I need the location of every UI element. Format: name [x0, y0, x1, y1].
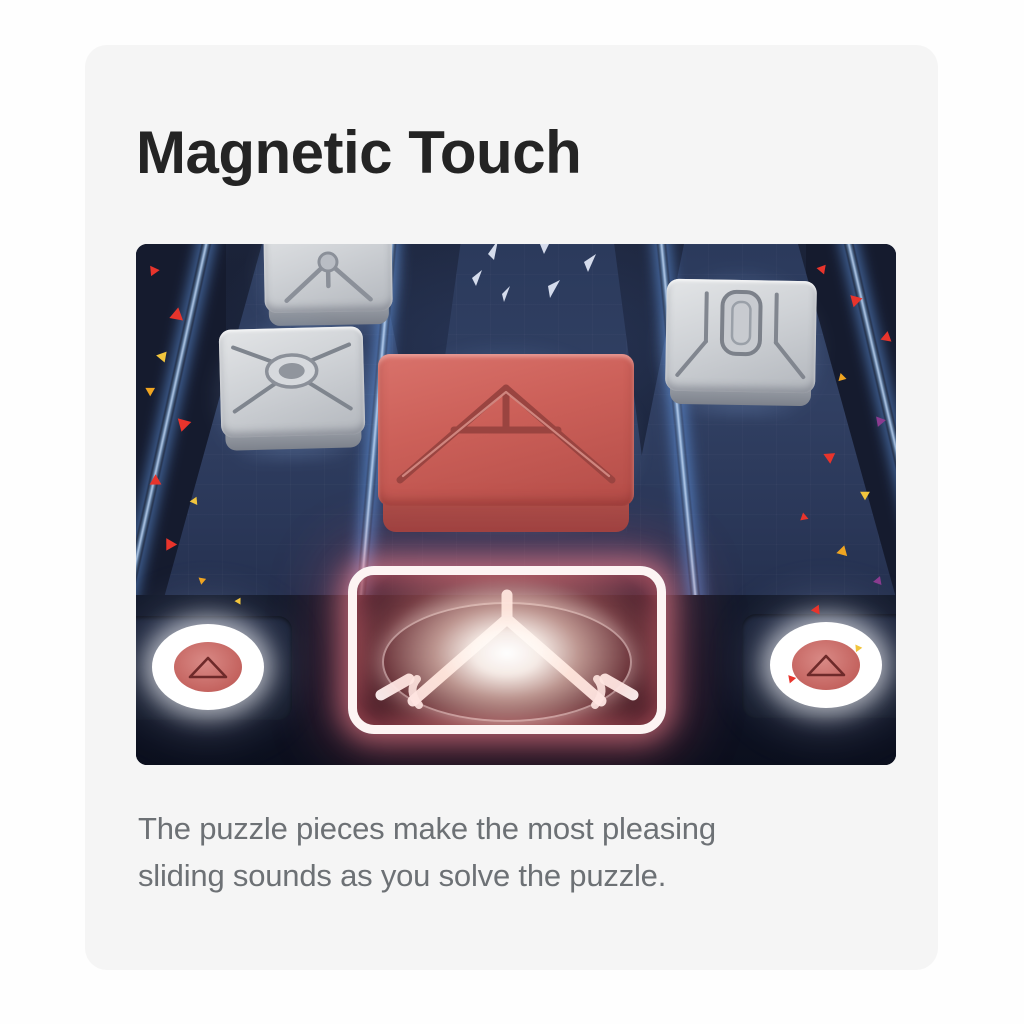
- magnetic-snap-flare: [357, 566, 657, 734]
- feature-card: Magnetic Touch: [85, 45, 938, 970]
- badge-right[interactable]: [770, 622, 882, 708]
- badge-left[interactable]: [152, 624, 264, 710]
- feature-caption: The puzzle pieces make the most pleasing…: [138, 805, 838, 899]
- triangle-outline-icon: [803, 650, 849, 680]
- caption-line-2: sliding sounds as you solve the puzzle.: [138, 852, 838, 899]
- game-board-scene: [136, 244, 896, 765]
- tile-mid-left[interactable]: [219, 326, 366, 438]
- circle-cross-icon: [219, 326, 366, 438]
- page-title: Magnetic Touch: [136, 123, 581, 183]
- page-root: Magnetic Touch: [0, 0, 1024, 1024]
- target-slot-center[interactable]: [348, 566, 666, 734]
- tile-center-red[interactable]: [378, 354, 634, 506]
- badge-inner: [174, 642, 242, 692]
- badge-inner: [792, 640, 860, 690]
- triangle-outline-icon: [185, 652, 231, 682]
- caption-line-1: The puzzle pieces make the most pleasing: [138, 805, 838, 852]
- spark-debris: [136, 244, 896, 312]
- triangle-groove-icon: [378, 354, 634, 506]
- feature-image: [136, 244, 896, 765]
